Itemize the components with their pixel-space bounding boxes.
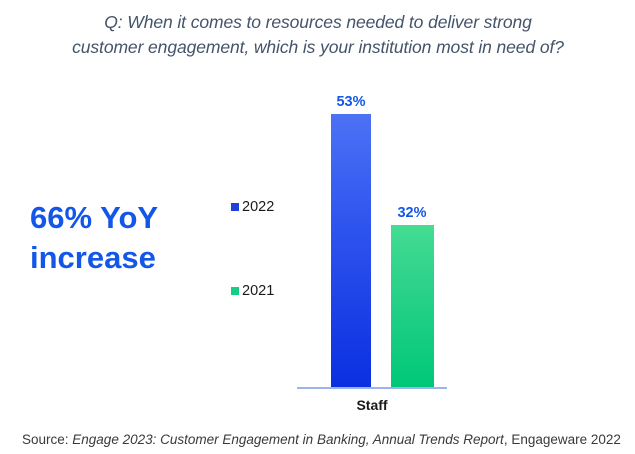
bar-value-label-2022: 53%	[326, 94, 376, 110]
chart-plot-area: 66% YoY increase 2022 2021 53% 32% Staff	[0, 0, 635, 454]
x-axis-line	[297, 387, 447, 389]
source-suffix: , Engageware 2022	[504, 432, 621, 447]
callout-line-2: increase	[30, 238, 220, 278]
yoy-increase-callout: 66% YoY increase	[30, 198, 220, 278]
bar-2022-staff[interactable]	[331, 114, 371, 388]
callout-line-1: 66% YoY	[30, 198, 220, 238]
bar-group-staff	[297, 110, 447, 388]
source-prefix: Source:	[22, 432, 72, 447]
legend-swatch-icon-2021	[231, 287, 239, 295]
legend-item-2022[interactable]: 2022	[231, 199, 274, 215]
source-report-title: Engage 2023: Customer Engagement in Bank…	[72, 432, 504, 447]
bar-2021-staff[interactable]	[391, 225, 434, 388]
bar-value-label-2021: 32%	[387, 205, 437, 221]
legend-swatch-icon-2022	[231, 203, 239, 211]
legend-label-2021: 2021	[242, 283, 274, 299]
source-footnote: Source: Engage 2023: Customer Engagement…	[22, 432, 622, 447]
x-axis-category-label: Staff	[297, 397, 447, 413]
legend-label-2022: 2022	[242, 199, 274, 215]
legend-item-2021[interactable]: 2021	[231, 283, 274, 299]
